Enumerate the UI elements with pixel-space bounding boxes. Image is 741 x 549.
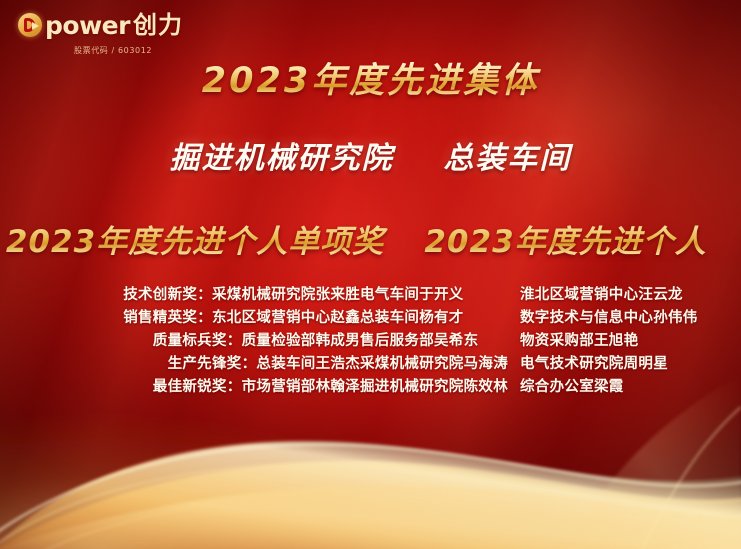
individual-recipient: 物资采购部王旭艳	[520, 330, 713, 353]
section-heading-individuals: 2023年度先进个人	[390, 216, 741, 261]
award-list-item: 销售精英奖：东北区域营销中心赵鑫	[24, 307, 360, 330]
award-recipient: 质量检验部韩成男	[242, 330, 360, 353]
company-logo: power 创力 股票代码 / 603012	[18, 10, 228, 62]
individual-recipient: 售后服务部吴希东	[360, 330, 520, 353]
award-list-item: 生产先锋奖：总装车间王浩杰	[24, 353, 360, 376]
individual-award-list: 电气车间于开义淮北区域营销中心汪云龙总装车间杨有才数字技术与信息中心孙伟伟售后服…	[360, 284, 741, 399]
logo-wordmark-row: power 创力	[18, 10, 228, 40]
award-separator: ：	[242, 353, 257, 376]
individual-recipient: 综合办公室梁霞	[520, 376, 713, 399]
section-headings: 2023年度先进个人单项奖 2023年度先进个人	[0, 216, 741, 261]
logo-word-cn: 创力	[133, 13, 183, 37]
award-prize-name: 技术创新奖	[123, 284, 197, 307]
individual-recipient: 电气技术研究院周明星	[520, 353, 713, 376]
winner-lists: 技术创新奖：采煤机械研究院张来胜销售精英奖：东北区域营销中心赵鑫质量标兵奖：质量…	[0, 284, 741, 399]
award-prize-name: 生产先锋奖	[168, 353, 242, 376]
award-slide: power 创力 股票代码 / 603012 2023年度先进集体 掘进机械研究…	[0, 0, 741, 549]
page-title: 2023年度先进集体	[0, 62, 741, 101]
award-recipient: 东北区域营销中心赵鑫	[212, 307, 360, 330]
award-prize-name: 质量标兵奖	[153, 330, 227, 353]
award-recipient: 市场营销部林翰泽	[242, 376, 360, 399]
award-prize-name: 最佳新锐奖	[153, 376, 227, 399]
award-separator: ：	[197, 307, 212, 330]
award-recipient: 采煤机械研究院张来胜	[212, 284, 360, 307]
individual-recipient: 采煤机械研究院马海涛	[360, 353, 520, 376]
individual-list-row: 售后服务部吴希东物资采购部王旭艳	[360, 330, 713, 353]
award-list-item: 质量标兵奖：质量检验部韩成男	[24, 330, 360, 353]
individual-recipient: 淮北区域营销中心汪云龙	[520, 284, 713, 307]
logo-word-en: power	[45, 13, 130, 38]
individual-recipient: 掘进机械研究院陈效林	[360, 376, 520, 399]
individual-recipient: 总装车间杨有才	[360, 307, 520, 330]
power-plug-circle-icon	[18, 13, 42, 37]
individual-recipient: 电气车间于开义	[360, 284, 520, 307]
award-separator: ：	[227, 376, 242, 399]
individual-list-row: 掘进机械研究院陈效林综合办公室梁霞	[360, 376, 713, 399]
section-heading-special-awards: 2023年度先进个人单项奖	[0, 216, 390, 261]
award-list-item: 技术创新奖：采煤机械研究院张来胜	[24, 284, 360, 307]
individual-list-row: 电气车间于开义淮北区域营销中心汪云龙	[360, 284, 713, 307]
award-prize-name: 销售精英奖	[123, 307, 197, 330]
award-separator: ：	[227, 330, 242, 353]
individual-recipient: 数字技术与信息中心孙伟伟	[520, 307, 713, 330]
logo-stock-code: 股票代码 / 603012	[74, 45, 228, 56]
special-award-list: 技术创新奖：采煤机械研究院张来胜销售精英奖：东北区域营销中心赵鑫质量标兵奖：质量…	[0, 284, 360, 399]
individual-list-row: 采煤机械研究院马海涛电气技术研究院周明星	[360, 353, 713, 376]
individual-list-row: 总装车间杨有才数字技术与信息中心孙伟伟	[360, 307, 713, 330]
award-recipient: 总装车间王浩杰	[256, 353, 360, 376]
award-list-item: 最佳新锐奖：市场营销部林翰泽	[24, 376, 360, 399]
award-separator: ：	[197, 284, 212, 307]
collective-winners: 掘进机械研究院 总装车间	[0, 133, 741, 177]
